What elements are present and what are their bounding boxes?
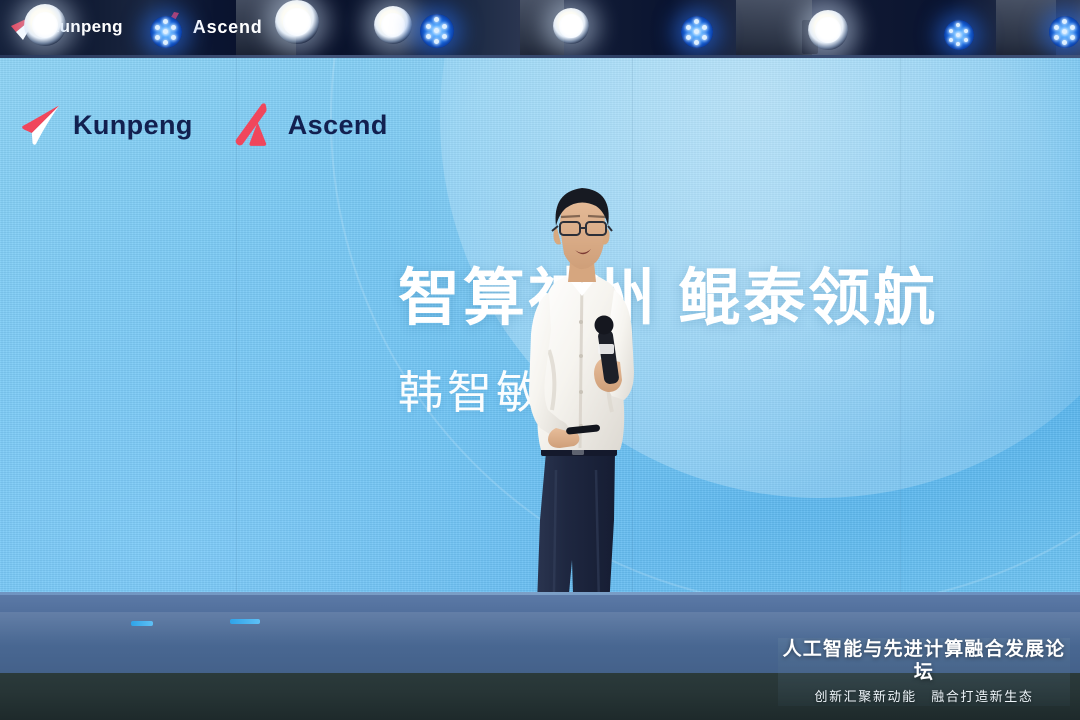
blue-led-spotlight	[150, 16, 182, 48]
blue-led-spotlight	[681, 16, 713, 48]
conference-stage-photo: Kunpeng Ascend	[0, 0, 1080, 720]
ceiling-lighting-truss: Kunpeng Ascend	[0, 0, 1080, 60]
blue-led-spotlight	[1049, 16, 1080, 48]
stage-marker-tape	[230, 619, 260, 624]
ceiling-logo-word-ascend: Ascend	[193, 17, 263, 38]
blue-led-spotlight	[420, 14, 454, 48]
white-spotlight	[24, 4, 66, 46]
ascend-logo-mark	[231, 102, 277, 148]
white-spotlight	[374, 6, 412, 44]
ascend-logo-word: Ascend	[288, 112, 388, 139]
forum-subtitle: 创新汇聚新动能 融合打造新生态	[778, 689, 1070, 706]
stage-marker-tape	[131, 621, 153, 626]
screen-speaker-name: 韩智敏	[398, 370, 545, 415]
ascend-logo: Ascend	[231, 102, 388, 148]
kunpeng-logo: Kunpeng	[16, 102, 193, 148]
forum-title: 人工智能与先进计算融合发展论坛	[778, 638, 1070, 686]
screen-logo-row: Kunpeng Ascend	[16, 102, 388, 148]
kunpeng-logo-mark	[16, 102, 62, 148]
forum-branding: 人工智能与先进计算融合发展论坛 创新汇聚新动能 融合打造新生态	[778, 638, 1070, 706]
screen-headline: 智算神州 鲲泰领航	[398, 266, 938, 333]
white-spotlight	[808, 10, 848, 50]
kunpeng-logo-word: Kunpeng	[73, 112, 193, 139]
blue-led-spotlight	[944, 20, 974, 50]
led-screen: Kunpeng Ascend 智算神州 鲲泰领航 韩智敏	[0, 58, 1080, 594]
white-spotlight	[553, 8, 589, 44]
white-spotlight	[275, 0, 319, 44]
